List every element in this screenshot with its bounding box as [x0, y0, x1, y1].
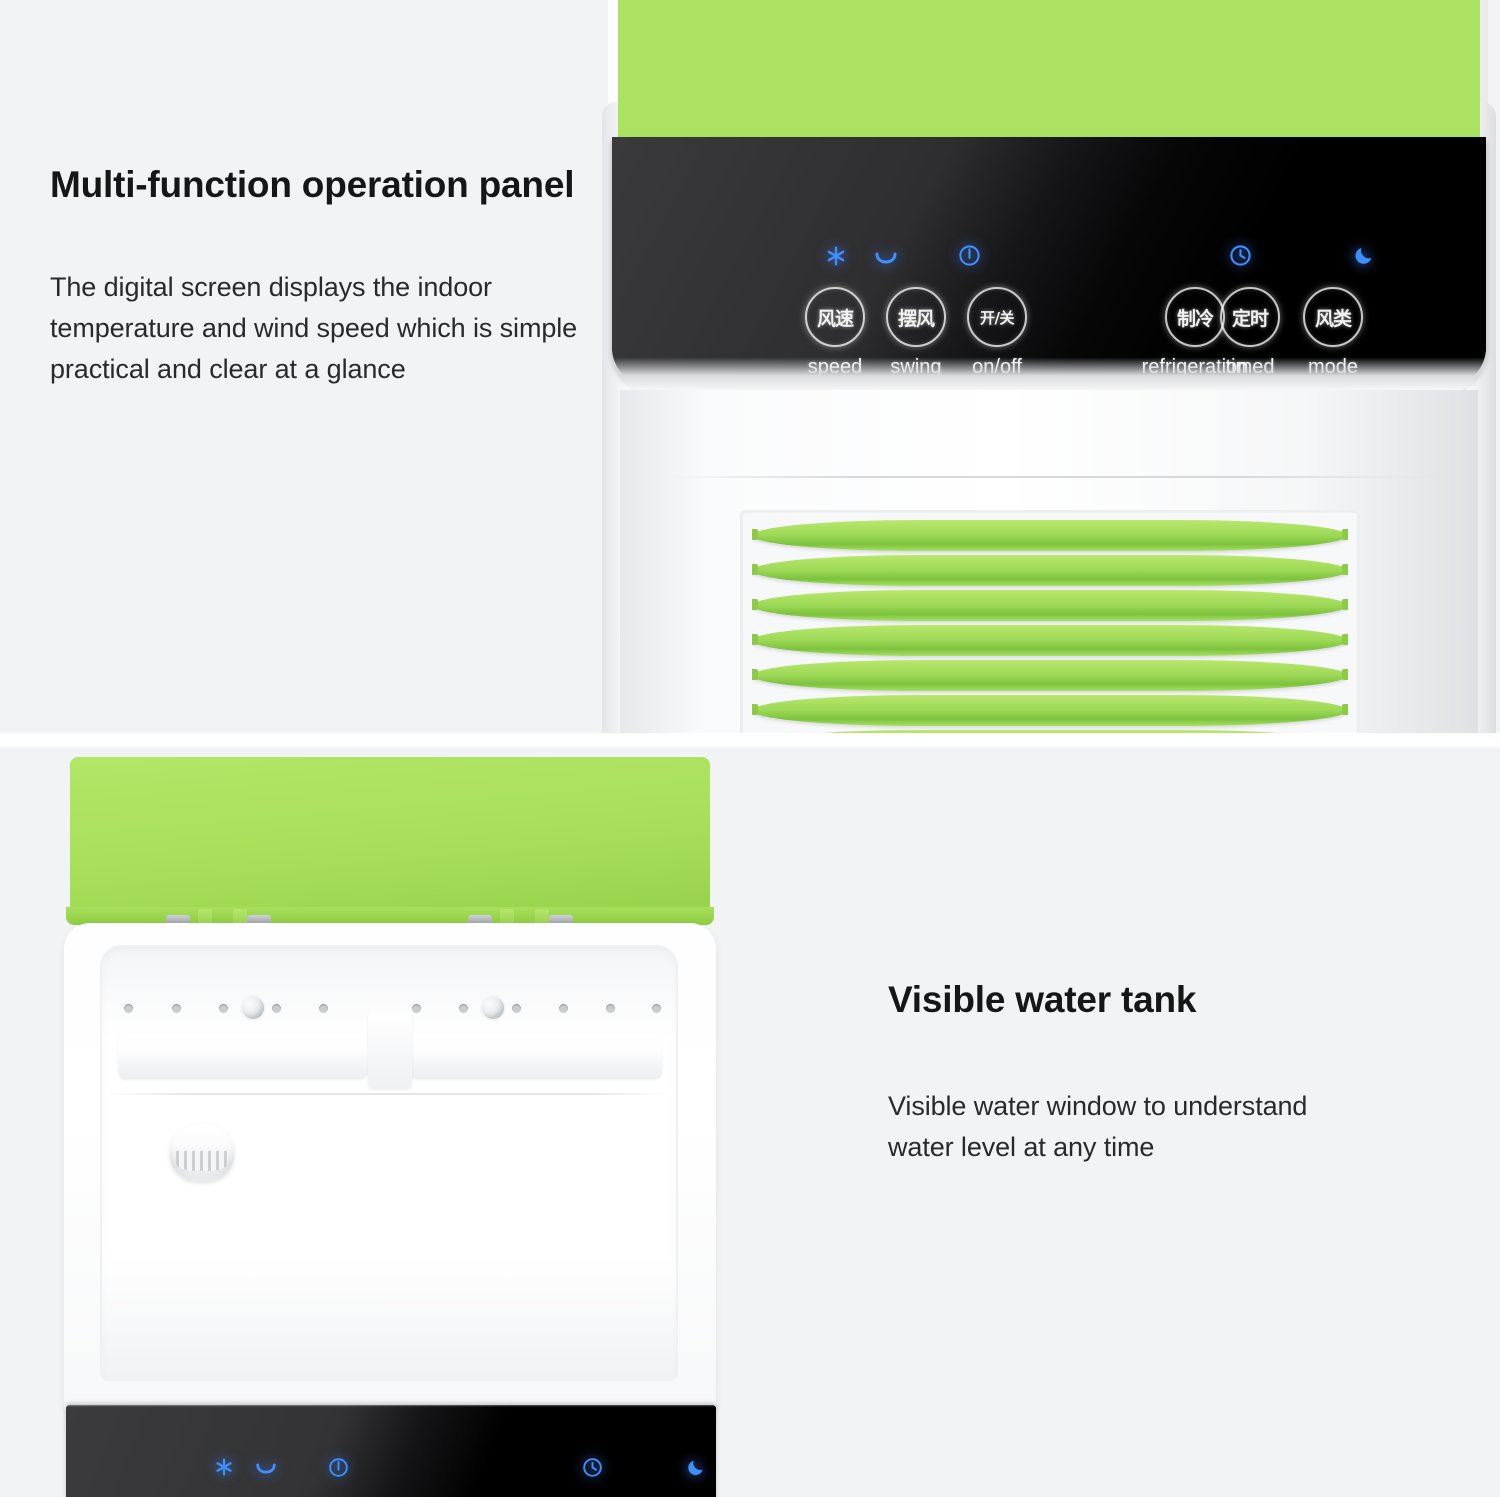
section-divider	[0, 733, 1500, 747]
inlet-hole	[319, 1004, 328, 1013]
control-panel-glass: 风速 speed 摆风 swing 开/关 on/off 制冷 refriger…	[612, 137, 1486, 387]
body-seam-line	[660, 476, 1438, 478]
section-operation-panel: Multi-function operation panel The digit…	[0, 0, 1500, 733]
air-vent-frame	[740, 510, 1360, 733]
button-refrigeration-glyph: 制冷	[1165, 287, 1225, 347]
green-lid	[70, 757, 710, 917]
power-icon	[328, 1457, 349, 1478]
inlet-hole	[219, 1004, 228, 1013]
green-top-band	[618, 0, 1480, 140]
louver-blade	[752, 520, 1348, 551]
water-tank-image	[48, 757, 748, 1497]
button-timed-label: timed	[1219, 356, 1281, 379]
description-operation-panel: The digital screen displays the indoor t…	[50, 267, 590, 390]
clock-icon	[1229, 244, 1252, 267]
touch-button-row: 风速 speed 摆风 swing 开/关 on/off 制冷 refriger…	[612, 287, 1486, 387]
button-mode-label: mode	[1302, 356, 1364, 379]
inlet-hole	[459, 1004, 468, 1013]
inlet-hole	[412, 1004, 421, 1013]
button-swing-glyph: 摆风	[886, 287, 946, 347]
button-timed[interactable]: 定时 timed	[1219, 287, 1281, 379]
inlet-hole	[606, 1004, 615, 1013]
inlet-hole	[172, 1004, 181, 1013]
moon-icon	[1353, 244, 1375, 266]
power-icon	[958, 244, 981, 267]
snowflake-icon	[214, 1457, 234, 1477]
tank-screw	[482, 997, 504, 1019]
louver-blade	[752, 695, 1348, 726]
clock-icon	[582, 1457, 603, 1478]
green-louver-grille	[752, 520, 1348, 733]
tank-screw	[242, 997, 264, 1019]
cooler-lower-body	[620, 390, 1478, 733]
swing-arc-icon	[874, 251, 898, 265]
louver-blade	[752, 660, 1348, 691]
inlet-hole	[512, 1004, 521, 1013]
louver-blade	[752, 590, 1348, 621]
text-block-operation-panel: Multi-function operation panel The digit…	[50, 160, 590, 390]
inlet-hole	[559, 1004, 568, 1013]
louver-blade	[752, 555, 1348, 586]
button-speed[interactable]: 风速 speed	[804, 287, 866, 379]
inlet-hole	[272, 1004, 281, 1013]
button-swing[interactable]: 摆风 swing	[885, 287, 947, 379]
snowflake-icon	[825, 245, 847, 267]
air-cooler-top-image: 风速 speed 摆风 swing 开/关 on/off 制冷 refriger…	[598, 0, 1500, 733]
indicator-row	[612, 245, 1486, 279]
product-feature-page: Multi-function operation panel The digit…	[0, 0, 1500, 1497]
button-speed-glyph: 风速	[805, 287, 865, 347]
section-water-tank: Visible water tank Visible water window …	[0, 747, 1500, 1497]
button-speed-label: speed	[804, 356, 866, 379]
louver-blade	[752, 625, 1348, 656]
button-mode[interactable]: 风类 mode	[1302, 287, 1364, 379]
tank-center-clip	[368, 1011, 412, 1089]
tank-shelf-line	[108, 1093, 670, 1095]
lower-control-panel-strip	[66, 1405, 716, 1497]
swing-arc-icon	[255, 1462, 277, 1475]
drain-knob-ridges	[176, 1151, 228, 1171]
button-on-off[interactable]: 开/关 on/off	[966, 287, 1028, 379]
strip-glass-reflection	[66, 1405, 716, 1497]
page-title-water-tank: Visible water tank	[888, 975, 1318, 1024]
inlet-hole	[652, 1004, 661, 1013]
tank-body	[64, 923, 716, 1415]
inlet-hole	[124, 1004, 133, 1013]
button-on-off-glyph: 开/关	[967, 287, 1027, 347]
button-timed-glyph: 定时	[1220, 287, 1280, 347]
button-mode-glyph: 风类	[1303, 287, 1363, 347]
tank-rail-left	[118, 1033, 368, 1079]
tank-rail-right	[410, 1033, 662, 1079]
tank-inner-cavity	[100, 945, 678, 1381]
button-swing-label: swing	[885, 356, 947, 379]
description-water-tank: Visible water window to understand water…	[888, 1086, 1318, 1168]
button-on-off-label: on/off	[966, 356, 1028, 379]
page-title-operation-panel: Multi-function operation panel	[50, 160, 590, 209]
text-block-water-tank: Visible water tank Visible water window …	[888, 975, 1318, 1168]
drain-knob[interactable]	[170, 1123, 234, 1181]
strip-top-highlight	[66, 1405, 716, 1407]
moon-icon	[686, 1457, 706, 1477]
